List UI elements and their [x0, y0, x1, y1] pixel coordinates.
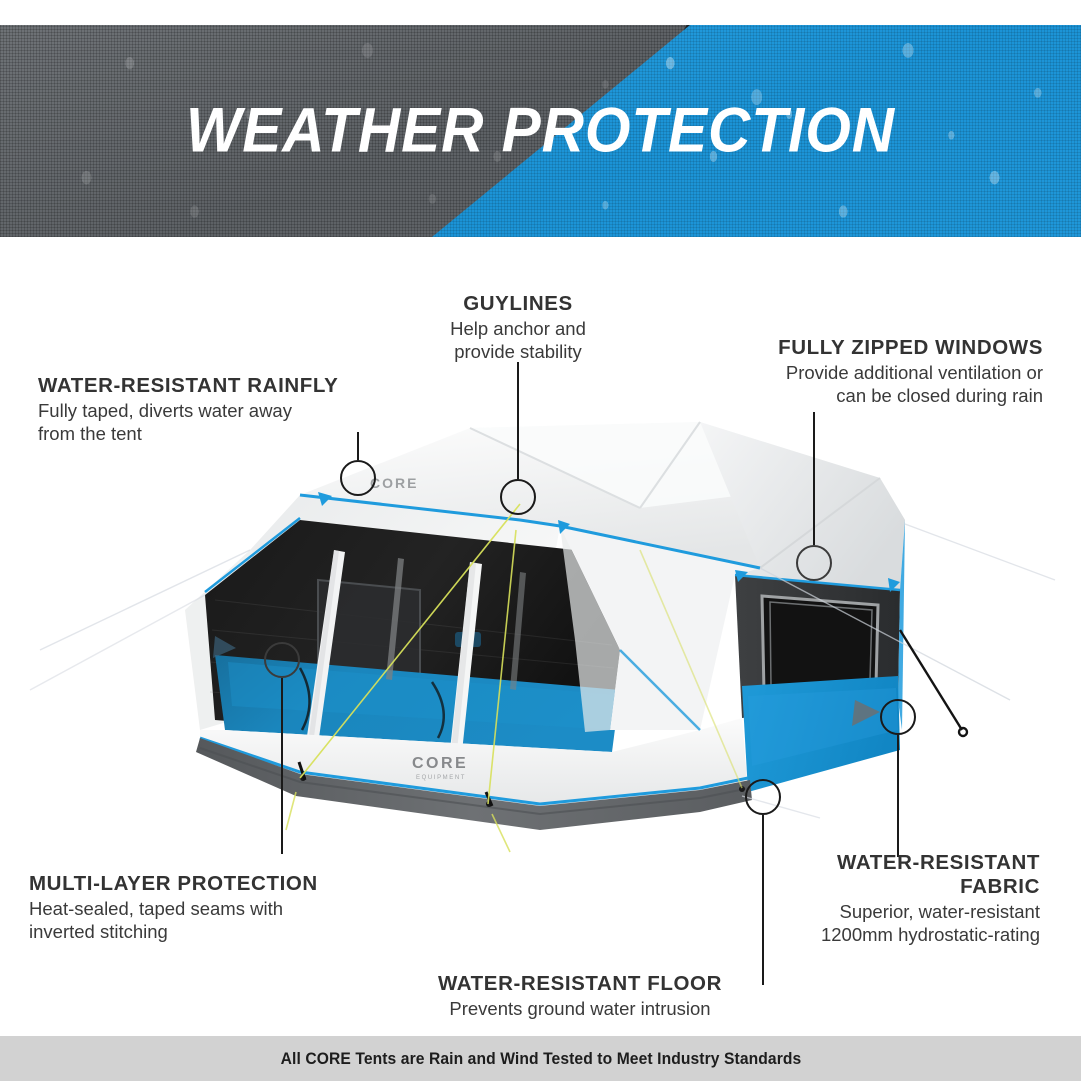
callout-title: WATER-RESISTANT RAINFLY	[38, 374, 418, 398]
leader-line-floor	[762, 815, 764, 985]
callout-desc-line-1: Fully taped, diverts water away	[38, 400, 418, 423]
callout-water-resistant-floor: WATER-RESISTANT FLOOR Prevents ground wa…	[390, 972, 770, 1021]
callout-description: Help anchor and provide stability	[400, 318, 636, 363]
callout-title: WATER-RESISTANT FLOOR	[390, 972, 770, 996]
page-title: WEATHER PROTECTION	[38, 100, 1043, 163]
callout-title: MULTI-LAYER PROTECTION	[29, 872, 409, 896]
callout-fully-zipped-windows: FULLY ZIPPED WINDOWS Provide additional …	[700, 336, 1043, 407]
callout-guylines: GUYLINES Help anchor and provide stabili…	[400, 292, 636, 363]
callout-ring-multilayer	[264, 642, 300, 678]
callout-description: Prevents ground water intrusion	[390, 998, 770, 1021]
header-banner: WEATHER PROTECTION	[0, 25, 1081, 237]
callout-multi-layer-protection: MULTI-LAYER PROTECTION Heat-sealed, tape…	[29, 872, 409, 943]
callout-desc-line-1: Help anchor and	[400, 318, 636, 341]
callout-desc-line-1: Provide additional ventilation or	[700, 362, 1043, 385]
callout-desc-line-1: Prevents ground water intrusion	[390, 998, 770, 1021]
callout-ring-guylines	[500, 479, 536, 515]
callout-desc-line-2: 1200mm hydrostatic-rating	[780, 924, 1040, 947]
callout-desc-line-2: from the tent	[38, 423, 418, 446]
callout-desc-line-1: Heat-sealed, taped seams with	[29, 898, 409, 921]
callout-ring-floor	[745, 779, 781, 815]
leader-line-multilayer	[281, 678, 283, 854]
callout-description: Heat-sealed, taped seams with inverted s…	[29, 898, 409, 943]
callout-title: FULLY ZIPPED WINDOWS	[700, 336, 1043, 360]
callout-ring-fabric	[880, 699, 916, 735]
svg-text:CORE: CORE	[412, 755, 468, 772]
callout-desc-line-2: can be closed during rain	[700, 385, 1043, 408]
callout-description: Superior, water-resistant 1200mm hydrost…	[780, 901, 1040, 946]
svg-text:CORE: CORE	[370, 475, 418, 491]
leader-line-guylines	[517, 362, 519, 479]
footer-bar: All CORE Tents are Rain and Wind Tested …	[0, 1036, 1081, 1081]
infographic-page: WEATHER PROTECTION	[0, 0, 1081, 1081]
brand-logo-skirt: CORE EQUIPMENT	[412, 755, 468, 781]
callout-description: Fully taped, diverts water away from the…	[38, 400, 418, 445]
leader-line-fabric	[897, 735, 899, 857]
callout-desc-line-2: provide stability	[400, 341, 636, 364]
callout-desc-line-1: Superior, water-resistant	[780, 901, 1040, 924]
callout-description: Provide additional ventilation or can be…	[700, 362, 1043, 407]
callout-title: GUYLINES	[400, 292, 636, 316]
leader-line-windows	[813, 412, 815, 545]
tent-product-image: CORE CORE EQUIPMENT	[0, 400, 1081, 860]
callout-title-line-1: WATER-RESISTANT	[780, 851, 1040, 875]
callout-desc-line-2: inverted stitching	[29, 921, 409, 944]
brand-logo-fly: CORE	[370, 475, 418, 491]
callout-title: WATER-RESISTANT FABRIC	[780, 851, 1040, 899]
callout-title-line-2: FABRIC	[780, 875, 1040, 899]
callout-ring-rainfly	[340, 460, 376, 496]
callout-ring-windows	[796, 545, 832, 581]
callout-water-resistant-fabric: WATER-RESISTANT FABRIC Superior, water-r…	[780, 851, 1040, 946]
footer-text: All CORE Tents are Rain and Wind Tested …	[280, 1049, 801, 1069]
svg-text:EQUIPMENT: EQUIPMENT	[416, 775, 466, 781]
callout-water-resistant-rainfly: WATER-RESISTANT RAINFLY Fully taped, div…	[38, 374, 418, 445]
